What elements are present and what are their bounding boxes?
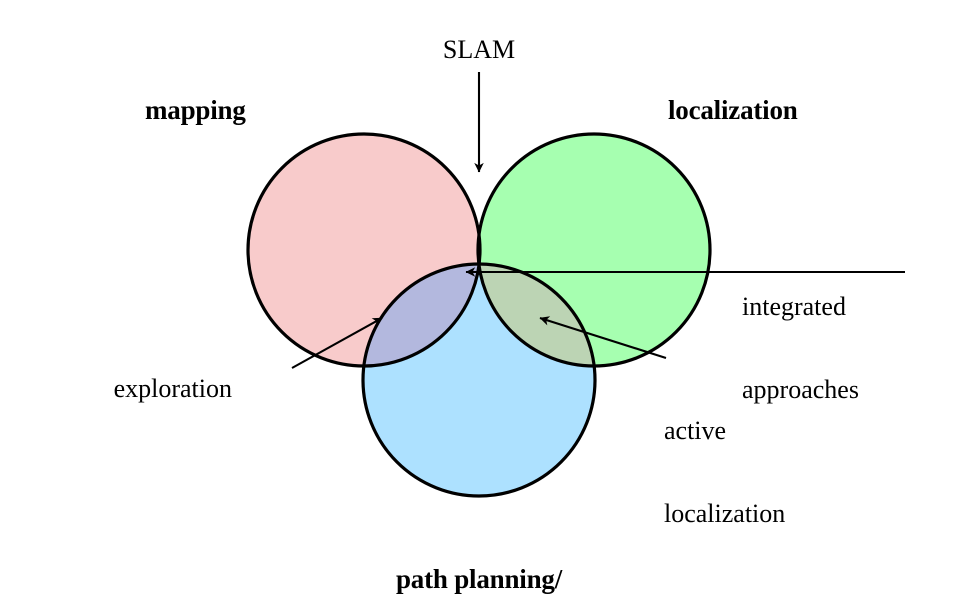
intersection-label-integrated-approaches-line1: integrated: [742, 293, 859, 321]
intersection-label-slam: SLAM: [399, 36, 559, 64]
set-fills: [248, 134, 710, 496]
set-label-path-planning: path planning/ motion control: [329, 508, 629, 600]
intersection-label-exploration: exploration: [0, 375, 232, 403]
venn-diagram-canvas: mapping localization path planning/ moti…: [0, 0, 960, 600]
intersection-label-integrated-approaches-line2: approaches: [742, 376, 859, 404]
set-label-path-planning-line1: path planning/: [329, 565, 629, 594]
intersection-label-active-localization-line2: localization: [664, 500, 785, 528]
set-label-mapping: mapping: [145, 96, 246, 125]
set-label-localization: localization: [668, 96, 798, 125]
intersection-label-integrated-approaches: integrated approaches: [742, 238, 859, 458]
